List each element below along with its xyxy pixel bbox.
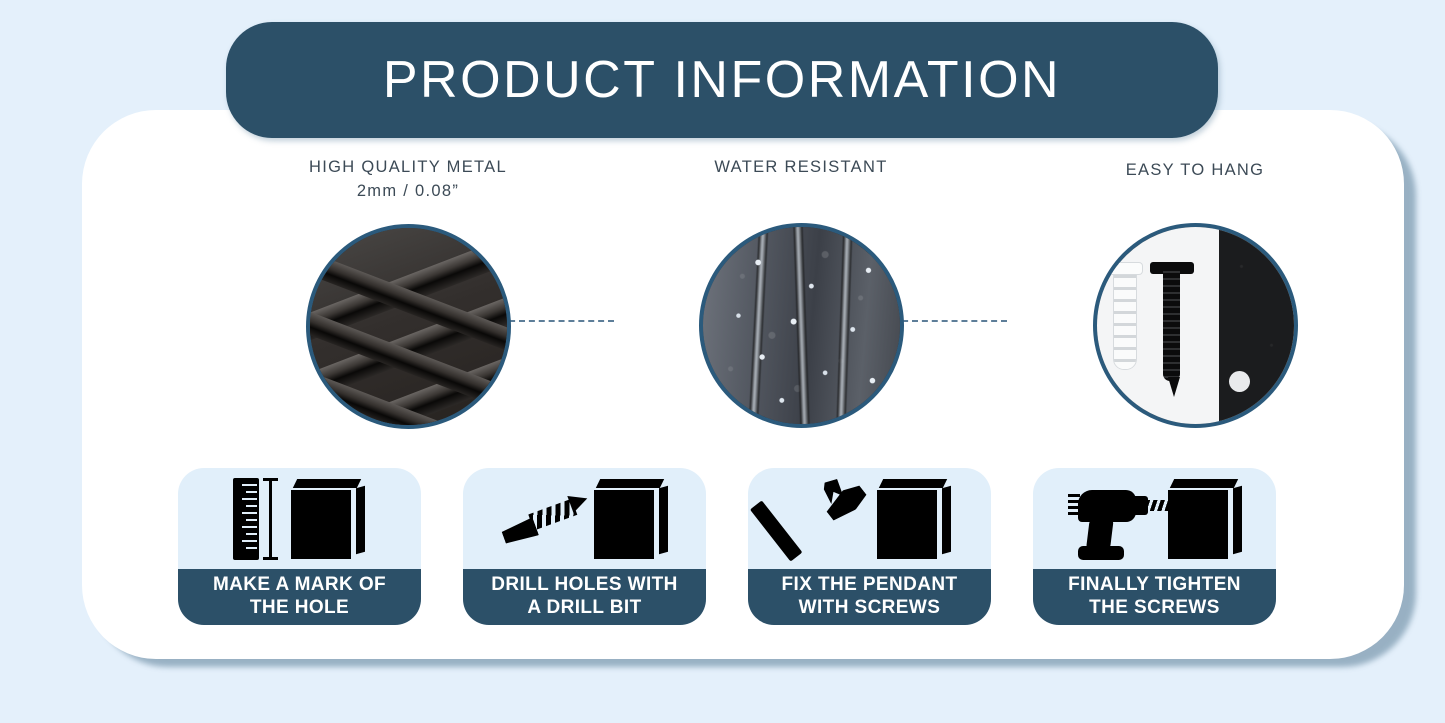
wall-anchor-head [1106,263,1142,274]
installation-steps: MAKE A MARK OF THE HOLE DRILL HOLES WITH… [82,468,1404,628]
panel-box-icon [1168,479,1244,559]
screw-thread [1163,266,1180,380]
step-label: FINALLY TIGHTEN THE SCREWS [1033,569,1276,625]
step-card-drill-holes[interactable]: DRILL HOLES WITH A DRILL BIT [463,468,706,625]
step-card-finally-tighten[interactable]: FINALLY TIGHTEN THE SCREWS [1033,468,1276,625]
panel-box-icon [291,479,367,559]
screw-tip [1168,377,1180,397]
hammer-icon [787,477,873,561]
step-icon-group [178,468,421,569]
feature-row: HIGH QUALITY METAL 2mm / 0.08” WATER RES… [82,150,1404,440]
feature-easy-to-hang: EASY TO HANG [1045,159,1345,428]
power-drill-icon [1066,476,1170,562]
step-icon-group [1033,468,1276,569]
panel-box-icon [877,479,953,559]
water-droplet-texture [703,227,900,424]
step-label: FIX THE PENDANT WITH SCREWS [748,569,991,625]
wall-anchor [1114,266,1136,368]
drill-bit-icon [492,473,603,564]
feature-high-quality-metal: HIGH QUALITY METAL 2mm / 0.08” [258,156,558,429]
feature-image-water-droplets [699,223,904,428]
feature-caption: EASY TO HANG [1126,159,1264,183]
feature-water-resistant: WATER RESISTANT [651,156,951,428]
metal-sheet-texture [310,228,507,425]
feature-image-screw-and-anchor [1093,223,1298,428]
page-title: PRODUCT INFORMATION [383,50,1061,110]
feature-caption: HIGH QUALITY METAL 2mm / 0.08” [309,156,507,204]
title-banner: PRODUCT INFORMATION [226,22,1218,138]
mounting-panel [1219,227,1294,424]
panel-box-icon [594,479,670,559]
screw-anchor-photo [1097,227,1294,424]
feature-caption: WATER RESISTANT [714,156,887,180]
step-label: MAKE A MARK OF THE HOLE [178,569,421,625]
step-icon-group [748,468,991,569]
step-icon-group [463,468,706,569]
ruler-icon [233,478,259,560]
step-card-make-a-mark[interactable]: MAKE A MARK OF THE HOLE [178,468,421,625]
step-label: DRILL HOLES WITH A DRILL BIT [463,569,706,625]
step-card-fix-the-pendant[interactable]: FIX THE PENDANT WITH SCREWS [748,468,991,625]
feature-image-stacked-metal-sheets [306,224,511,429]
measure-bar-icon [263,478,277,560]
